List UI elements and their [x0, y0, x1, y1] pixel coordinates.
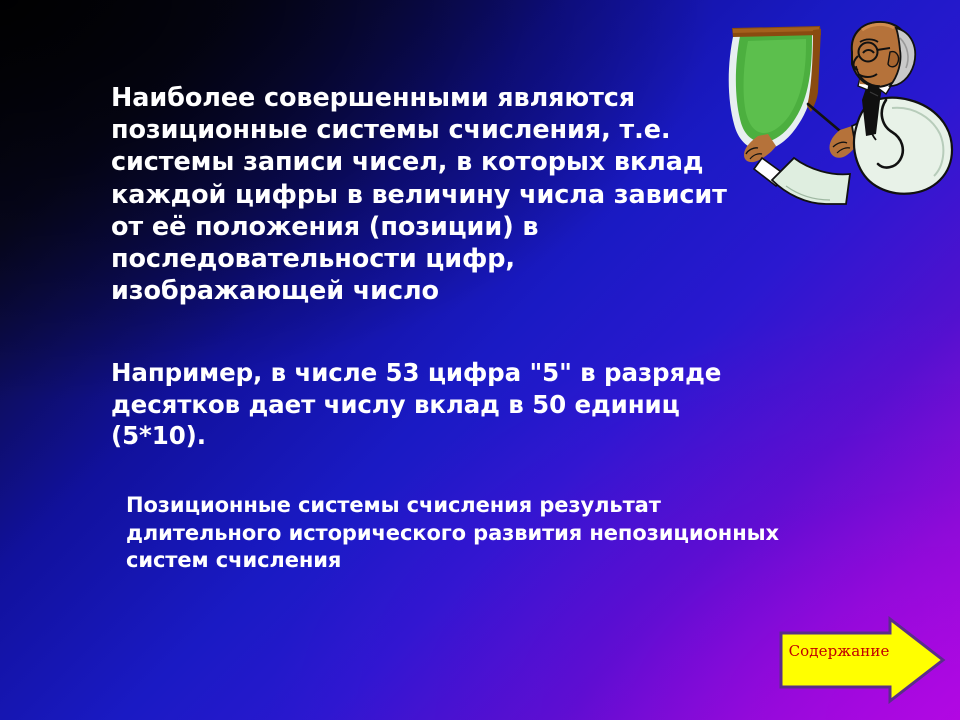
- lab-coat: [854, 78, 952, 194]
- presentation-slide: Наиболее совершенными являются позиционн…: [0, 0, 960, 720]
- body-paragraph-1: Наиболее совершенными являются позиционн…: [111, 82, 751, 307]
- professor-illustration: [700, 8, 960, 208]
- slide-content: Наиболее совершенными являются позиционн…: [0, 0, 960, 720]
- professor-head: [852, 22, 915, 87]
- body-paragraph-2: Например, в числе 53 цифра "5" в разряде…: [111, 357, 751, 452]
- navigation-contents-button[interactable]: Содержание: [778, 616, 946, 704]
- right-arrow-icon[interactable]: [778, 616, 946, 704]
- body-paragraph-3: Позиционные системы счисления результат …: [126, 492, 806, 575]
- navigation-contents-label: Содержание: [786, 642, 892, 660]
- green-chart-icon: [729, 26, 821, 150]
